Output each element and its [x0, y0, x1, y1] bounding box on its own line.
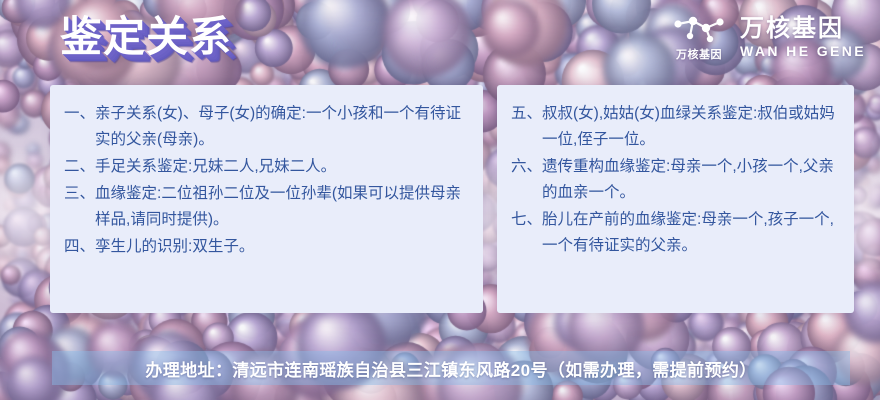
brand-name-cn: 万核基因: [740, 16, 844, 42]
list-item-number: 七、: [511, 207, 542, 259]
list-item-text: 遗传重构血缘鉴定:母亲一个,小孩一个,父亲的血亲一个。: [542, 154, 840, 206]
list-item-number: 四、: [64, 234, 95, 260]
footer-address-text: 办理地址：清远市连南瑶族自治县三江镇东风路20号（如需办理，需提前预约）: [145, 356, 756, 381]
list-item: 三、 血缘鉴定:二位祖孙二位及一位孙辈(如果可以提供母亲样品,请同时提供)。: [64, 181, 469, 233]
list-item: 五、 叔叔(女),姑姑(女)血绿关系鉴定:叔伯或姑妈一位,侄子一位。: [511, 101, 840, 153]
content-cards: 一、 亲子关系(女)、母子(女)的确定:一个小孩和一个有待证实的父亲(母亲)。 …: [50, 85, 854, 313]
logo-mark: 万核基因: [668, 14, 730, 62]
logo-wordmark: 万核基因 WAN HE GENE: [740, 16, 866, 59]
list-item-number: 五、: [511, 101, 542, 153]
poster-root: 鉴定关系: [0, 0, 880, 400]
page-title: 鉴定关系: [60, 16, 232, 58]
list-item-number: 二、: [64, 154, 95, 180]
list-item-number: 六、: [511, 154, 542, 206]
logo-mark-text: 万核基因: [676, 46, 722, 62]
list-item-text: 手足关系鉴定:兄妹二人,兄妹二人。: [95, 154, 469, 180]
list-item-text: 胎儿在产前的血缘鉴定:母亲一个,孩子一个,一个有待证实的父亲。: [542, 207, 840, 259]
footer-band: 办理地址：清远市连南瑶族自治县三江镇东风路20号（如需办理，需提前预约）: [52, 351, 850, 385]
list-item: 二、 手足关系鉴定:兄妹二人,兄妹二人。: [64, 154, 469, 180]
list-item: 七、 胎儿在产前的血缘鉴定:母亲一个,孩子一个,一个有待证实的父亲。: [511, 207, 840, 259]
list-item: 一、 亲子关系(女)、母子(女)的确定:一个小孩和一个有待证实的父亲(母亲)。: [64, 101, 469, 153]
list-item-text: 血缘鉴定:二位祖孙二位及一位孙辈(如果可以提供母亲样品,请同时提供)。: [95, 181, 469, 233]
right-column-card: 五、 叔叔(女),姑姑(女)血绿关系鉴定:叔伯或姑妈一位,侄子一位。 六、 遗传…: [497, 85, 854, 313]
list-item: 六、 遗传重构血缘鉴定:母亲一个,小孩一个,父亲的血亲一个。: [511, 154, 840, 206]
list-item-text: 孪生儿的识别:双生子。: [95, 234, 469, 260]
left-column-card: 一、 亲子关系(女)、母子(女)的确定:一个小孩和一个有待证实的父亲(母亲)。 …: [50, 85, 483, 313]
brand-logo: 万核基因 万核基因 WAN HE GENE: [668, 14, 866, 62]
list-item-number: 三、: [64, 181, 95, 233]
list-item-number: 一、: [64, 101, 95, 153]
list-item: 四、 孪生儿的识别:双生子。: [64, 234, 469, 260]
brand-name-en: WAN HE GENE: [740, 43, 866, 60]
list-item-text: 叔叔(女),姑姑(女)血绿关系鉴定:叔伯或姑妈一位,侄子一位。: [542, 101, 840, 153]
molecule-icon: [670, 14, 728, 44]
list-item-text: 亲子关系(女)、母子(女)的确定:一个小孩和一个有待证实的父亲(母亲)。: [95, 101, 469, 153]
